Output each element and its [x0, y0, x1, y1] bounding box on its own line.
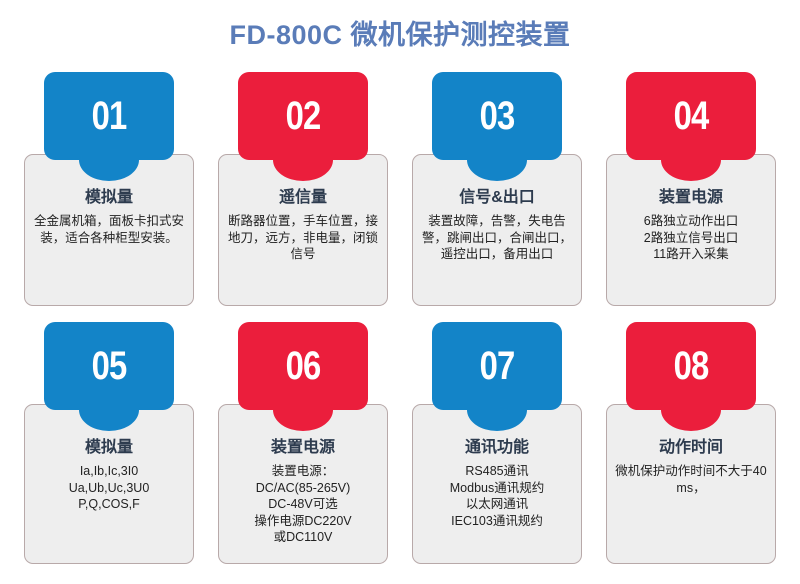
card-number-03: 03	[444, 72, 551, 160]
card-title-03: 信号&出口	[420, 189, 574, 207]
card-number-badge-08: 08	[626, 322, 756, 410]
card-description-07: RS485通讯 Modbus通讯规约 以太网通讯 IEC103通讯规约	[420, 463, 574, 529]
card-description-08: 微机保护动作时间不大于40ms，	[614, 463, 768, 496]
card-number-01: 01	[56, 72, 163, 160]
card-title-08: 动作时间	[614, 439, 768, 457]
card-title-07: 通讯功能	[420, 439, 574, 457]
feature-cards-grid: 模拟量 全金属机箱，面板卡扣式安装，适合各种柜型安装。 01 遥信量 断路器位置…	[0, 72, 800, 576]
card-number-04: 04	[638, 72, 745, 160]
card-description-05: Ia,Ib,Ic,3I0 Ua,Ub,Uc,3U0 P,Q,COS,F	[32, 463, 186, 513]
card-number-badge-01: 01	[44, 72, 174, 160]
page-title: FD-800C 微机保护测控装置	[0, 0, 800, 49]
card-description-03: 装置故障，告警，失电告警，跳闸出口，合闸出口，遥控出口，备用出口	[420, 213, 574, 263]
card-description-01: 全金属机箱，面板卡扣式安装，适合各种柜型安装。	[32, 213, 186, 246]
card-number-02: 02	[250, 72, 357, 160]
card-description-02: 断路器位置，手车位置，接地刀，远方，非电量，闭锁信号	[226, 213, 380, 263]
card-title-05: 模拟量	[32, 439, 186, 457]
card-number-08: 08	[638, 322, 745, 410]
feature-card-02[interactable]: 遥信量 断路器位置，手车位置，接地刀，远方，非电量，闭锁信号 02	[218, 72, 388, 322]
card-title-06: 装置电源	[226, 439, 380, 457]
feature-card-04[interactable]: 装置电源 6路独立动作出口 2路独立信号出口 11路开入采集 04	[606, 72, 776, 322]
feature-card-01[interactable]: 模拟量 全金属机箱，面板卡扣式安装，适合各种柜型安装。 01	[24, 72, 194, 322]
card-number-05: 05	[56, 322, 163, 410]
card-title-02: 遥信量	[226, 189, 380, 207]
card-title-04: 装置电源	[614, 189, 768, 207]
card-description-04: 6路独立动作出口 2路独立信号出口 11路开入采集	[614, 213, 768, 263]
card-number-badge-06: 06	[238, 322, 368, 410]
card-number-badge-05: 05	[44, 322, 174, 410]
card-number-badge-02: 02	[238, 72, 368, 160]
card-title-01: 模拟量	[32, 189, 186, 207]
feature-card-08[interactable]: 动作时间 微机保护动作时间不大于40ms， 08	[606, 322, 776, 576]
card-row-bottom: 模拟量 Ia,Ib,Ic,3I0 Ua,Ub,Uc,3U0 P,Q,COS,F …	[0, 322, 800, 576]
feature-card-06[interactable]: 装置电源 装置电源： DC/AC(85-265V) DC-48V可选 操作电源D…	[218, 322, 388, 576]
card-number-06: 06	[250, 322, 357, 410]
feature-card-03[interactable]: 信号&出口 装置故障，告警，失电告警，跳闸出口，合闸出口，遥控出口，备用出口 0…	[412, 72, 582, 322]
card-row-top: 模拟量 全金属机箱，面板卡扣式安装，适合各种柜型安装。 01 遥信量 断路器位置…	[0, 72, 800, 322]
card-number-badge-03: 03	[432, 72, 562, 160]
card-number-badge-07: 07	[432, 322, 562, 410]
card-description-06: 装置电源： DC/AC(85-265V) DC-48V可选 操作电源DC220V…	[226, 463, 380, 546]
card-number-07: 07	[444, 322, 551, 410]
card-number-badge-04: 04	[626, 72, 756, 160]
feature-card-07[interactable]: 通讯功能 RS485通讯 Modbus通讯规约 以太网通讯 IEC103通讯规约…	[412, 322, 582, 576]
feature-card-05[interactable]: 模拟量 Ia,Ib,Ic,3I0 Ua,Ub,Uc,3U0 P,Q,COS,F …	[24, 322, 194, 576]
